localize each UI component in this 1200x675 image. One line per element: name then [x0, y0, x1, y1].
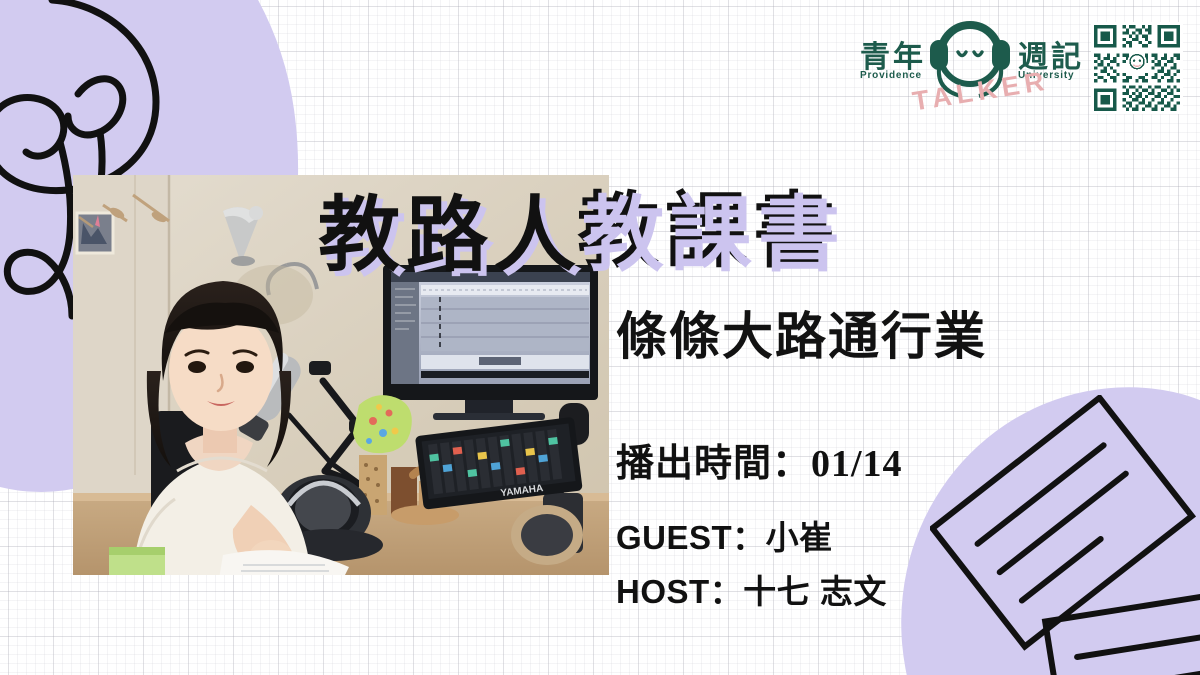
brand-logo: 青年 Providence 週記 University TALKER: [860, 14, 1090, 114]
host-line: HOST：十七 志文: [616, 565, 903, 613]
poster-canvas: 青年 Providence 週記 University TALKER: [0, 0, 1200, 675]
page-title: 教路人教課書: [318, 168, 846, 287]
title-main-dark: 教路人: [318, 190, 582, 281]
title-main-light: 教課書: [582, 190, 846, 281]
air-time: 播出時間：01/14: [616, 432, 903, 487]
logo-subtitle-left: Providence: [860, 70, 922, 81]
document-doodle-icon: [930, 395, 1200, 675]
page-subtitle: 條條大路通行業: [616, 295, 987, 369]
episode-info: 播出時間：01/14 GUEST：小崔 HOST：十七 志文: [616, 432, 903, 613]
qr-code[interactable]: [1091, 22, 1183, 114]
guest-line: GUEST：小崔: [616, 511, 903, 559]
